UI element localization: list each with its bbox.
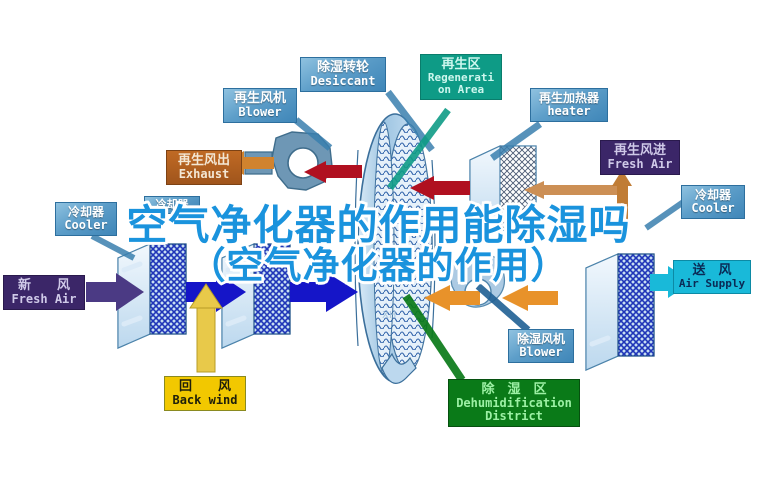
- label-dehumidification-blower-cn: 除湿风机: [513, 333, 569, 346]
- label-regeneration-blower: 再生风机 Blower: [223, 88, 297, 123]
- schematic-image: XH: [0, 0, 757, 488]
- label-dehumidification-blower-en: Blower: [513, 346, 569, 359]
- label-cooler-left-cn: 冷却器: [60, 206, 112, 219]
- label-regeneration-blower-cn: 再生风机: [228, 92, 292, 106]
- label-regeneration-heater-cn: 再生加热器: [535, 92, 603, 105]
- label-dehumidification-blower: 除湿风机 Blower: [508, 329, 574, 363]
- label-regeneration-fresh-air-en: Fresh Air: [605, 158, 675, 171]
- label-cooler-right-en: Cooler: [686, 202, 740, 215]
- label-cooler-right-cn: 冷却器: [686, 189, 740, 202]
- label-regeneration-area: 再生区 Regenerati on Area: [420, 54, 502, 100]
- label-fresh-air-inlet-cn: 新 风: [8, 279, 80, 293]
- label-air-supply-en: Air Supply: [678, 278, 746, 290]
- svg-text:XH: XH: [382, 310, 396, 321]
- label-exhaust-cn: 再生风出: [171, 154, 237, 168]
- label-regeneration-area-cn: 再生区: [425, 58, 497, 72]
- label-desiccant-wheel-cn: 除湿转轮: [305, 61, 381, 75]
- label-air-supply: 送 风 Air Supply: [673, 260, 751, 294]
- label-cooler-right: 冷却器 Cooler: [681, 185, 745, 219]
- label-fresh-air-inlet: 新 风 Fresh Air: [3, 275, 85, 310]
- label-dehumidification-district-cn: 除 湿 区: [453, 383, 575, 397]
- label-exhaust-en: Exhaust: [171, 168, 237, 181]
- label-exhaust: 再生风出 Exhaust: [166, 150, 242, 185]
- label-cooler-left-en: Cooler: [60, 219, 112, 232]
- label-regeneration-heater-en: heater: [535, 105, 603, 118]
- label-dehumidification-district-en2: District: [453, 410, 575, 423]
- label-regeneration-area-en2: on Area: [425, 84, 497, 96]
- label-dehumidification-district: 除 湿 区 Dehumidification District: [448, 379, 580, 427]
- label-back-wind: 回 风 Back wind: [164, 376, 246, 411]
- label-back-wind-en: Back wind: [169, 394, 241, 407]
- label-fresh-air-inlet-en: Fresh Air: [8, 293, 80, 306]
- label-cooler-mid: 冷却器: [144, 196, 200, 214]
- label-back-wind-cn: 回 风: [169, 380, 241, 394]
- label-regeneration-heater: 再生加热器 heater: [530, 88, 608, 122]
- label-cooler-left: 冷却器 Cooler: [55, 202, 117, 236]
- label-regeneration-blower-en: Blower: [228, 106, 292, 119]
- label-cooler-mid-cn: 冷却器: [148, 199, 196, 211]
- label-air-supply-cn: 送 风: [678, 264, 746, 278]
- label-desiccant-wheel-en: Desiccant: [305, 75, 381, 88]
- label-desiccant-wheel: 除湿转轮 Desiccant: [300, 57, 386, 92]
- label-regeneration-fresh-air: 再生风进 Fresh Air: [600, 140, 680, 175]
- label-regeneration-fresh-air-cn: 再生风进: [605, 144, 675, 158]
